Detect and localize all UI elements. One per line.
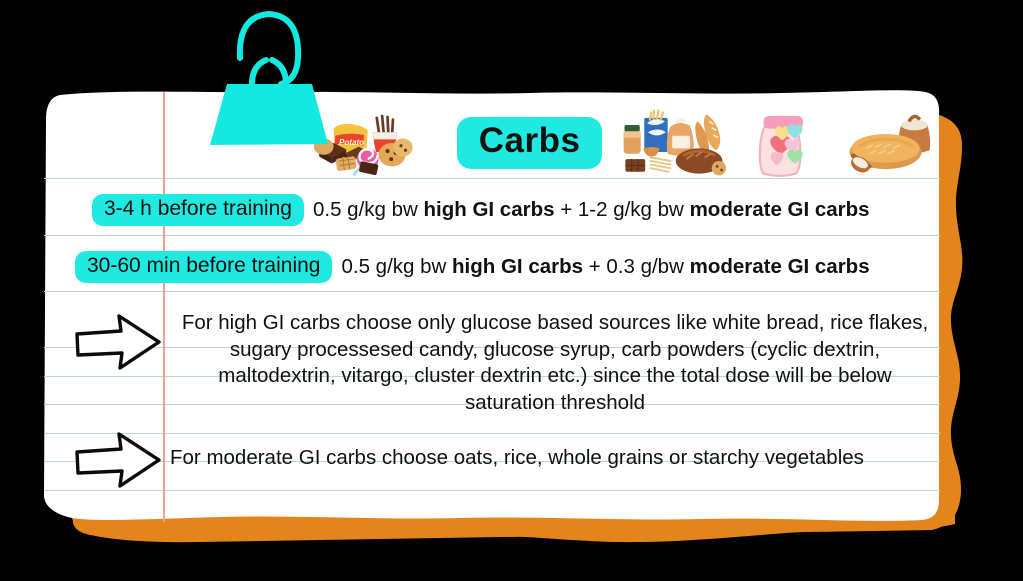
note-line: sugary processesed candy, glucose syrup,…: [170, 337, 940, 364]
right-arrow-icon: [73, 426, 163, 490]
timing-row: 30-60 min before training 0.5 g/kg bw hi…: [75, 251, 870, 283]
note-line: maltodextrin, vitargo, cluster dextrin e…: [170, 363, 940, 390]
poster-canvas: Potato: [0, 0, 1023, 581]
timing-dose-text: 0.5 g/kg bw high GI carbs + 1-2 g/kg bw …: [313, 198, 870, 223]
dose-part: + 0.3 g/bw: [583, 255, 690, 278]
dose-part-bold: moderate GI carbs: [690, 255, 870, 278]
bread-flour-pasta-illustration: [620, 105, 728, 181]
note-line: For moderate GI carbs choose oats, rice,…: [170, 445, 940, 472]
binder-clip-icon: [196, 0, 342, 146]
timing-row: 3-4 h before training 0.5 g/kg bw high G…: [92, 194, 870, 226]
paper-content: Potato: [44, 92, 940, 522]
rule-line: [44, 490, 940, 491]
dose-part: 0.5 g/kg bw: [313, 198, 424, 221]
timing-tag: 3-4 h before training: [92, 194, 304, 226]
dose-part: 0.5 g/kg bw: [341, 255, 452, 278]
note-line: For high GI carbs choose only glucose ba…: [170, 310, 940, 337]
carbs-title-badge: Carbs: [457, 117, 603, 169]
note-paragraph: For high GI carbs choose only glucose ba…: [170, 310, 940, 416]
rule-line: [44, 433, 940, 434]
svg-text:Potato: Potato: [339, 138, 364, 147]
dose-part: + 1-2 g/kg bw: [555, 198, 690, 221]
header-row: Potato: [44, 100, 940, 186]
dose-part-bold: high GI carbs: [424, 198, 555, 221]
rule-line: [44, 235, 940, 236]
dose-part-bold: high GI carbs: [452, 255, 583, 278]
note-line: saturation threshold: [170, 390, 940, 417]
timing-dose-text: 0.5 g/kg bw high GI carbs + 0.3 g/bw mod…: [341, 255, 869, 280]
note-paragraph: For moderate GI carbs choose oats, rice,…: [170, 445, 940, 472]
timing-tag: 30-60 min before training: [75, 251, 332, 283]
bread-loaf-flour-sack-illustration: [846, 105, 940, 181]
right-arrow-icon: [73, 310, 163, 374]
rule-line: [44, 291, 940, 292]
candy-jar-illustration: [750, 105, 820, 181]
dose-part-bold: moderate GI carbs: [690, 198, 870, 221]
